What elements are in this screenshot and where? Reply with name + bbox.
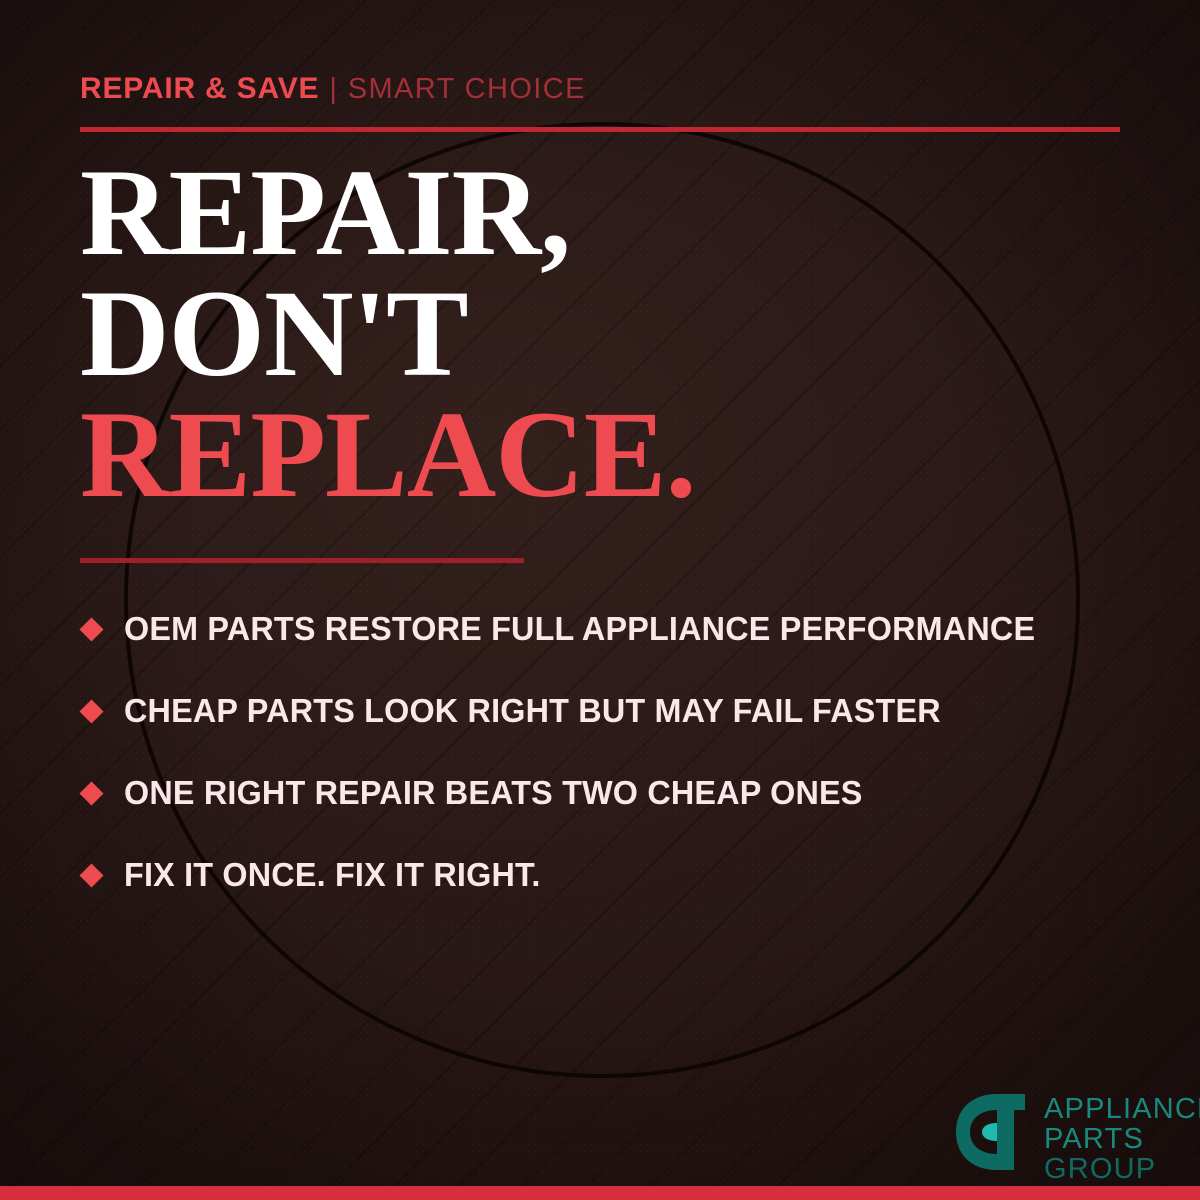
header-divider — [80, 127, 1120, 132]
brand-line-3: GROUP — [1044, 1154, 1200, 1184]
list-item: OEM PARTS RESTORE FULL APPLIANCE PERFORM… — [80, 588, 1150, 670]
list-item-label: ONE RIGHT REPAIR BEATS TWO CHEAP ONES — [124, 774, 863, 812]
list-item: FIX IT ONCE. FIX IT RIGHT. — [80, 834, 1150, 916]
headline-line-1: REPAIR, — [80, 152, 696, 273]
diamond-bullet-icon — [79, 781, 103, 805]
bottom-accent-bar — [0, 1186, 1200, 1200]
brand-wordmark: APPLIANCE PARTS GROUP — [1044, 1092, 1200, 1184]
list-item: CHEAP PARTS LOOK RIGHT BUT MAY FAIL FAST… — [80, 670, 1150, 752]
brand-line-2: PARTS — [1044, 1124, 1200, 1154]
diamond-bullet-icon — [79, 617, 103, 641]
g-monogram-icon — [952, 1092, 1030, 1172]
list-item-label: FIX IT ONCE. FIX IT RIGHT. — [124, 856, 541, 894]
list-item-label: OEM PARTS RESTORE FULL APPLIANCE PERFORM… — [124, 610, 1035, 648]
headline-divider — [80, 558, 524, 563]
benefits-list: OEM PARTS RESTORE FULL APPLIANCE PERFORM… — [80, 588, 1150, 916]
page-title: REPAIR, DON'T REPLACE. — [80, 152, 696, 515]
list-item-label: CHEAP PARTS LOOK RIGHT BUT MAY FAIL FAST… — [124, 692, 941, 730]
promo-poster: REPAIR & SAVE | SMART CHOICE REPAIR, DON… — [0, 0, 1200, 1200]
brand-logo: APPLIANCE PARTS GROUP — [952, 1092, 1200, 1184]
brand-line-1: APPLIANCE — [1044, 1094, 1200, 1124]
list-item: ONE RIGHT REPAIR BEATS TWO CHEAP ONES — [80, 752, 1150, 834]
eyebrow-main-label: REPAIR & SAVE — [80, 74, 319, 104]
headline-line-3: REPLACE. — [80, 394, 696, 515]
headline-line-2: DON'T — [80, 273, 696, 394]
eyebrow-sub-label: | SMART CHOICE — [329, 75, 586, 104]
eyebrow-header: REPAIR & SAVE | SMART CHOICE — [80, 74, 586, 104]
diamond-bullet-icon — [79, 863, 103, 887]
diamond-bullet-icon — [79, 699, 103, 723]
